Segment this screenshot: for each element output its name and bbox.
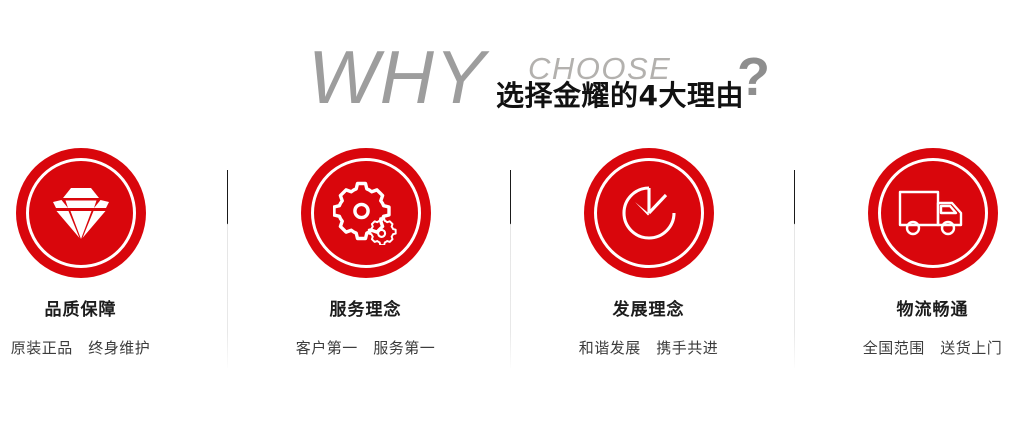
question-mark-icon: ?	[737, 50, 770, 104]
feature-column-development: 发展理念 和谐发展 携手共进	[522, 148, 775, 388]
feature-badge	[868, 148, 998, 278]
feature-badge	[301, 148, 431, 278]
feature-title: 品质保障	[0, 302, 207, 319]
heading-inner: WHY CHOOSE 选择金耀的4大理由 ?	[300, 38, 780, 138]
diamond-icon	[16, 148, 146, 278]
feature-badge	[584, 148, 714, 278]
feature-subtitle: 原装正品 终身维护	[0, 341, 207, 356]
feature-subtitle: 全国范围 送货上门	[806, 341, 1011, 356]
why-choose-banner: WHY CHOOSE 选择金耀的4大理由 ?	[0, 0, 1011, 434]
heading-chinese-title: 选择金耀的4大理由	[496, 82, 744, 110]
feature-badge	[16, 148, 146, 278]
feature-column-service: 服务理念 客户第一 服务第一	[239, 148, 492, 388]
heading-why-text: WHY	[308, 40, 486, 115]
feature-subtitle: 客户第一 服务第一	[239, 341, 492, 356]
feature-subtitle: 和谐发展 携手共进	[522, 341, 775, 356]
banner-heading: WHY CHOOSE 选择金耀的4大理由 ?	[0, 38, 1011, 138]
feature-title: 发展理念	[522, 302, 775, 319]
feature-column-logistics: 物流畅通 全国范围 送货上门	[806, 148, 1011, 388]
truck-icon	[868, 148, 998, 278]
feature-title: 物流畅通	[806, 302, 1011, 319]
feature-column-quality: 品质保障 原装正品 终身维护	[0, 148, 207, 388]
gears-icon	[301, 148, 431, 278]
gauge-icon	[584, 148, 714, 278]
feature-columns: 品质保障 原装正品 终身维护	[0, 148, 1011, 388]
feature-title: 服务理念	[239, 302, 492, 319]
